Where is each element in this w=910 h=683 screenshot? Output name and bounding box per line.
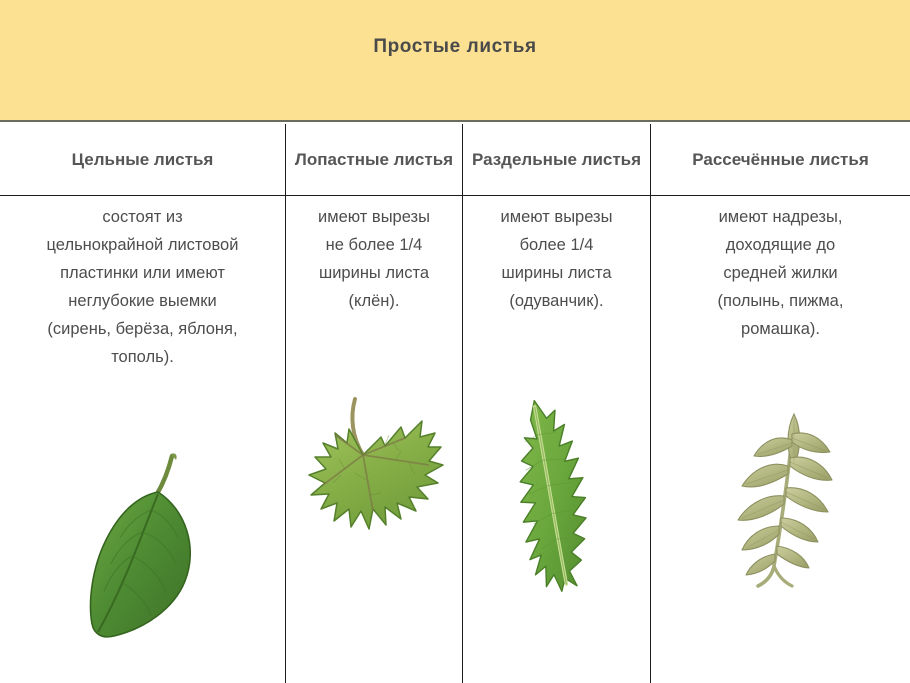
leaf-image-whole: [0, 444, 285, 644]
column-header-parted-leaves: Раздельные листья: [463, 124, 650, 195]
column-parted-leaves: Раздельные листья имеют вырезы более 1/4…: [462, 124, 650, 683]
column-description-lobed-leaves: имеют вырезы не более 1/4 ширины листа (…: [286, 197, 462, 315]
maple-leaf-icon: [289, 389, 459, 599]
column-header-label: Цельные листья: [72, 147, 214, 172]
column-description-text: имеют вырезы не более 1/4 ширины листа (…: [318, 208, 430, 310]
column-header-lobed-leaves: Лопастные листья: [286, 124, 462, 195]
whole-leaf-icon: [68, 444, 218, 644]
wormwood-leaf-icon: [706, 396, 856, 601]
dandelion-leaf-icon: [497, 392, 617, 607]
leaf-types-table: Цельные листья состоят из цельнокрайной …: [0, 124, 910, 683]
slide-root: Простые листья Цельные листья состоят из…: [0, 0, 910, 683]
title-band: Простые листья: [0, 0, 910, 122]
column-header-whole-leaves: Цельные листья: [0, 124, 285, 195]
column-header-label: Лопастные листья: [295, 147, 453, 172]
column-dissected-leaves: Рассечённые листья имеют надрезы, доходя…: [650, 124, 910, 683]
column-description-text: имеют надрезы, доходящие до средней жилк…: [718, 208, 844, 338]
column-description-text: имеют вырезы более 1/4 ширины листа (оду…: [501, 208, 613, 310]
column-description-whole-leaves: состоят из цельнокрайной листовой пласти…: [0, 197, 285, 371]
column-description-text: состоят из цельнокрайной листовой пласти…: [47, 208, 239, 366]
column-lobed-leaves: Лопастные листья имеют вырезы не более 1…: [285, 124, 462, 683]
column-description-dissected-leaves: имеют надрезы, доходящие до средней жилк…: [651, 197, 910, 343]
column-header-label: Рассечённые листья: [692, 147, 868, 172]
column-header-dissected-leaves: Рассечённые листья: [651, 124, 910, 195]
leaf-image-wormwood: [651, 396, 910, 601]
page-title: Простые листья: [0, 36, 910, 58]
column-whole-leaves: Цельные листья состоят из цельнокрайной …: [0, 124, 285, 683]
leaf-image-maple: [286, 389, 462, 599]
column-description-parted-leaves: имеют вырезы более 1/4 ширины листа (оду…: [463, 197, 650, 315]
leaf-image-dandelion: [463, 392, 650, 607]
column-header-label: Раздельные листья: [472, 147, 641, 172]
